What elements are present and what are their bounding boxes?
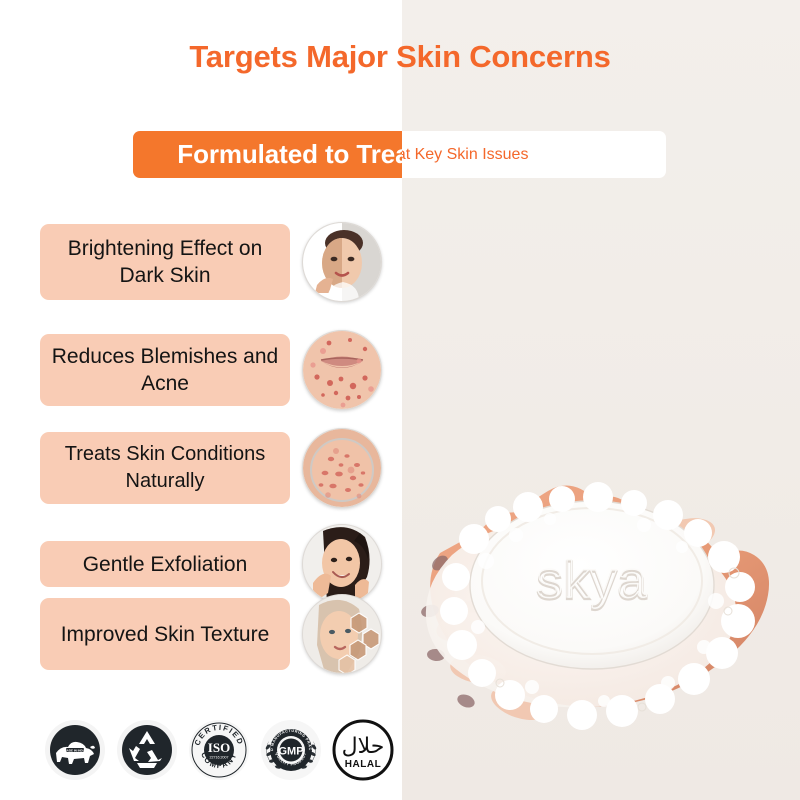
infographic-canvas: Targets Major Skin Concerns Formulated t…	[0, 0, 800, 800]
feature-row-4: Gentle Exfoliation	[40, 524, 382, 604]
page-title: Targets Major Skin Concerns	[0, 38, 800, 76]
svg-text:skya: skya	[537, 551, 648, 609]
feature-label-2: Reduces Blemishes and Acne	[40, 334, 290, 406]
feature-label-5: Improved Skin Texture	[40, 598, 290, 670]
feature-row-5: Improved Skin Texture	[40, 594, 382, 674]
iso-main-label: ISO	[208, 740, 230, 755]
feature-label-1: Brightening Effect on Dark Skin	[40, 224, 290, 300]
made-in-india-label: MADE IN INDIA	[64, 748, 87, 752]
feature-label-3: Treats Skin Conditions Naturally	[40, 432, 290, 504]
skin-condition-rash-closeup-thumb	[302, 428, 382, 508]
smiling-woman-touching-face-thumb	[302, 524, 382, 604]
feature-row-2: Reduces Blemishes and Acne	[40, 330, 382, 410]
made-in-india-badge: MADE IN INDIA	[44, 719, 106, 781]
certification-badge-row: MADE IN INDIA	[44, 712, 394, 788]
gmp-badge: GOOD MANUFACTURING PRACTICE QUALITY PROD…	[260, 719, 322, 781]
feature-row-1: Brightening Effect on Dark Skin	[40, 222, 382, 302]
hand-holding-lathered-soap-bar: skya skya	[382, 415, 800, 755]
iso-certified-badge: CERTIFIED COMPANY ISO 22716:2007	[188, 719, 250, 781]
before-after-face-brightening-thumb	[302, 222, 382, 302]
halal-latin-label: HALAL	[345, 759, 381, 770]
halal-badge: حلال HALAL	[332, 719, 394, 781]
recycle-badge	[116, 719, 178, 781]
halal-arabic-label: حلال	[342, 734, 385, 759]
subtitle-banner: Formulated to Treat Key Skin Issues Form…	[133, 131, 666, 178]
iso-sub-label: 22716:2007	[210, 756, 229, 760]
feature-row-3: Treats Skin Conditions Naturally	[40, 428, 382, 508]
feature-label-4: Gentle Exfoliation	[40, 541, 290, 587]
acne-lips-closeup-thumb	[302, 330, 382, 410]
hexagon-skin-texture-overlay-thumb	[302, 594, 382, 674]
gmp-main-label: GMP	[278, 746, 303, 758]
